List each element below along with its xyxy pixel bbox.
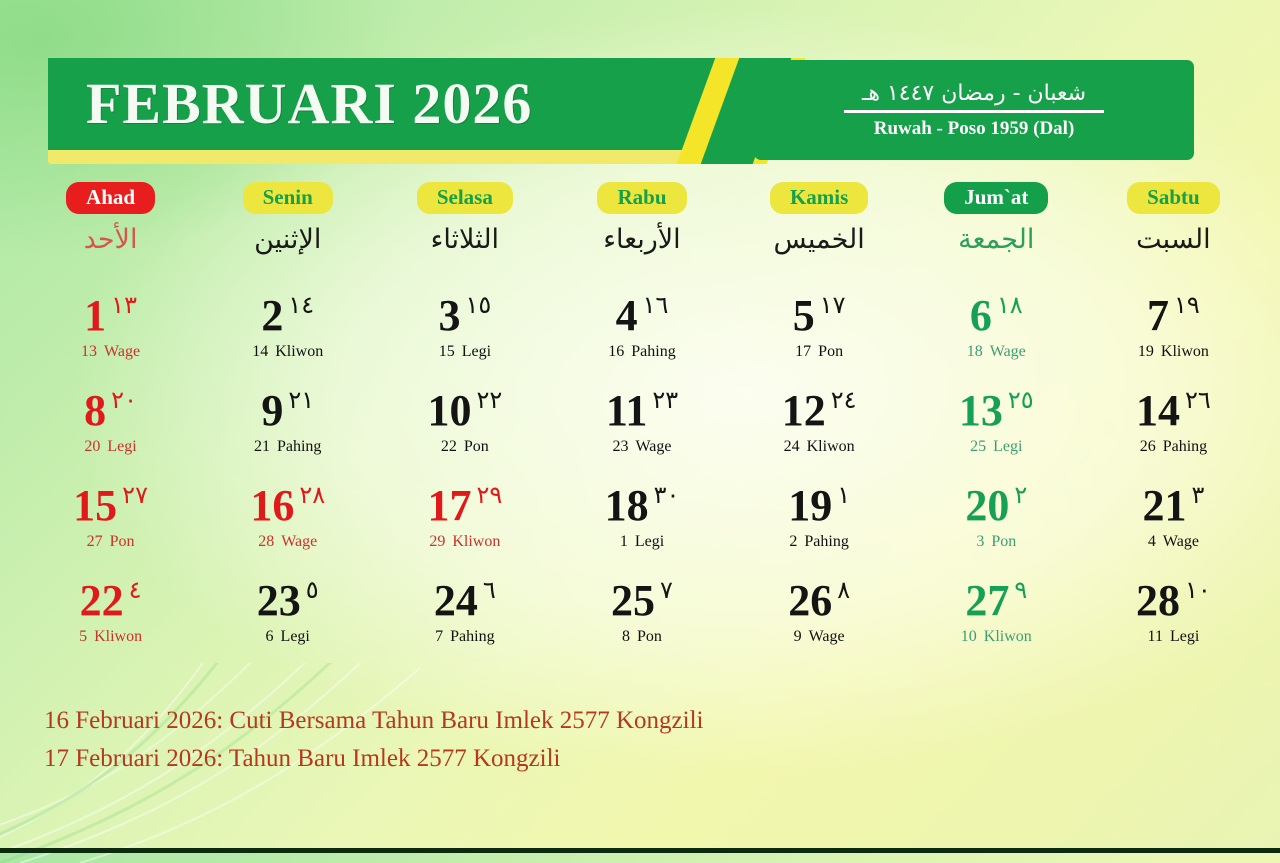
calendar-body: 1١٣13Wage2١٤14Kliwon3١٥15Legi4١٦16Pahing… — [22, 288, 1262, 668]
weekday-header-ahad: Ahadالأحد — [22, 182, 199, 257]
hijri-day-number: ٣٠ — [654, 480, 680, 510]
gregorian-day-number: 15 — [73, 478, 117, 534]
javanese-day-number: 1 — [620, 533, 628, 550]
day-cell[interactable]: 21٣4Wage — [1085, 478, 1262, 573]
day-cell[interactable]: 24٦7Pahing — [376, 573, 553, 668]
day-cell[interactable]: 15٢٧27Pon — [22, 478, 199, 573]
pasaran-name: Wage — [281, 533, 317, 550]
day-cell[interactable]: 25٧8Pon — [553, 573, 730, 668]
javanese-day-number: 9 — [794, 628, 802, 645]
pasaran-name: Pon — [637, 628, 662, 645]
javanese-day-number: 24 — [784, 438, 800, 455]
hijri-day-number: ٩ — [1014, 575, 1027, 605]
gregorian-day-number: 21 — [1142, 478, 1186, 534]
day-cell[interactable]: 10٢٢22Pon — [376, 383, 553, 478]
weekday-arabic-name: الأحد — [22, 223, 199, 257]
weekday-pill: Rabu — [597, 182, 686, 214]
javanese-day-number: 7 — [435, 628, 443, 645]
weekday-arabic-name: الجمعة — [908, 223, 1085, 257]
pasaran-name: Pon — [991, 533, 1016, 550]
day-cell[interactable]: 23٥6Legi — [199, 573, 376, 668]
javanese-day-number: 29 — [429, 533, 445, 550]
gregorian-day-number: 11 — [606, 383, 648, 439]
javanese-day-number: 6 — [266, 628, 274, 645]
javanese-month-label: Ruwah - Poso 1959 (Dal) — [874, 118, 1075, 140]
pasaran-name: Pon — [464, 438, 489, 455]
pasaran-name: Pahing — [277, 438, 321, 455]
gregorian-day-number: 28 — [1136, 573, 1180, 629]
pasaran-name: Wage — [809, 628, 845, 645]
calendar-header: FEBRUARI 2026 شعبان - رمضان ١٤٤٧ هـ Ruwa… — [48, 58, 1194, 170]
pasaran-name: Pahing — [450, 628, 494, 645]
weekday-pill: Selasa — [417, 182, 513, 214]
gregorian-day-number: 12 — [782, 383, 826, 439]
javanese-day-number: 23 — [612, 438, 628, 455]
holiday-notes: 16 Februari 2026: Cuti Bersama Tahun Bar… — [44, 702, 1144, 778]
hijri-month-arabic: شعبان - رمضان ١٤٤٧ هـ — [862, 81, 1086, 106]
day-cell[interactable]: 20٢3Pon — [908, 478, 1085, 573]
hijri-day-number: ٢٢ — [476, 385, 502, 415]
javanese-day-number: 26 — [1140, 438, 1156, 455]
javanese-day-number: 5 — [79, 628, 87, 645]
hijri-day-number: ٧ — [660, 575, 673, 605]
hijri-banner: شعبان - رمضان ١٤٤٧ هـ Ruwah - Poso 1959 … — [754, 60, 1194, 160]
javanese-day-number: 20 — [84, 438, 100, 455]
week-row: 1١٣13Wage2١٤14Kliwon3١٥15Legi4١٦16Pahing… — [22, 288, 1262, 383]
weekday-pill: Kamis — [770, 182, 868, 214]
javanese-day-number: 13 — [81, 343, 97, 360]
javanese-day-number: 19 — [1138, 343, 1154, 360]
hijri-day-number: ٢٥ — [1008, 385, 1034, 415]
pasaran-name: Legi — [1170, 628, 1199, 645]
javanese-day-number: 22 — [441, 438, 457, 455]
day-cell[interactable]: 3١٥15Legi — [376, 288, 553, 383]
javanese-day-number: 14 — [252, 343, 268, 360]
javanese-day-number: 3 — [976, 533, 984, 550]
day-cell[interactable]: 2١٤14Kliwon — [199, 288, 376, 383]
gregorian-day-number: 3 — [438, 288, 460, 344]
weekday-arabic-name: السبت — [1085, 223, 1262, 257]
javanese-day-number: 18 — [967, 343, 983, 360]
hijri-divider — [844, 110, 1104, 113]
gregorian-day-number: 23 — [257, 573, 301, 629]
weekday-header-selasa: Selasaالثلاثاء — [376, 182, 553, 257]
hijri-day-number: ١٠ — [1185, 575, 1211, 605]
javanese-day-number: 27 — [87, 533, 103, 550]
pasaran-name: Legi — [993, 438, 1022, 455]
javanese-day-number: 8 — [622, 628, 630, 645]
pasaran-name: Kliwon — [94, 628, 142, 645]
day-cell[interactable]: 6١٨18Wage — [908, 288, 1085, 383]
pasaran-name: Pahing — [631, 343, 675, 360]
weekday-header-sabtu: Sabtuالسبت — [1085, 182, 1262, 257]
hijri-day-number: ٢٠ — [111, 385, 137, 415]
day-cell[interactable]: 12٢٤24Kliwon — [731, 383, 908, 478]
weekday-header-jumat: Jum`atالجمعة — [908, 182, 1085, 257]
gregorian-day-number: 1 — [84, 288, 106, 344]
pasaran-name: Legi — [281, 628, 310, 645]
hijri-day-number: ٨ — [837, 575, 850, 605]
hijri-day-number: ١٨ — [997, 290, 1023, 320]
hijri-day-number: ٢٦ — [1185, 385, 1211, 415]
bottom-bar — [0, 848, 1280, 853]
gregorian-day-number: 17 — [427, 478, 471, 534]
day-cell[interactable]: 1١٣13Wage — [22, 288, 199, 383]
gregorian-day-number: 22 — [80, 573, 124, 629]
weekday-pill: Senin — [243, 182, 333, 214]
day-cell[interactable]: 28١٠11Legi — [1085, 573, 1262, 668]
pasaran-name: Legi — [635, 533, 664, 550]
hijri-day-number: ١٧ — [820, 290, 846, 320]
hijri-day-number: ٦ — [483, 575, 496, 605]
gregorian-day-number: 25 — [611, 573, 655, 629]
week-row: 8٢٠20Legi9٢١21Pahing10٢٢22Pon11٢٣23Wage1… — [22, 383, 1262, 478]
weekday-header-kamis: Kamisالخميس — [731, 182, 908, 257]
pasaran-name: Kliwon — [807, 438, 855, 455]
day-cell[interactable]: 16٢٨28Wage — [199, 478, 376, 573]
day-cell[interactable]: 11٢٣23Wage — [553, 383, 730, 478]
gregorian-day-number: 6 — [970, 288, 992, 344]
gregorian-day-number: 5 — [793, 288, 815, 344]
hijri-day-number: ١٤ — [288, 290, 314, 320]
gregorian-day-number: 13 — [959, 383, 1003, 439]
day-cell[interactable]: 17٢٩29Kliwon — [376, 478, 553, 573]
day-cell[interactable]: 18٣٠1Legi — [553, 478, 730, 573]
gregorian-day-number: 10 — [427, 383, 471, 439]
day-cell[interactable]: 14٢٦26Pahing — [1085, 383, 1262, 478]
javanese-day-number: 28 — [258, 533, 274, 550]
hijri-day-number: ١٦ — [643, 290, 669, 320]
weekday-header-rabu: Rabuالأربعاء — [553, 182, 730, 257]
hijri-day-number: ٥ — [306, 575, 319, 605]
pasaran-name: Wage — [1163, 533, 1199, 550]
pasaran-name: Wage — [104, 343, 140, 360]
pasaran-name: Pahing — [1163, 438, 1207, 455]
weekday-header-senin: Seninالإثنين — [199, 182, 376, 257]
weekday-arabic-name: الإثنين — [199, 223, 376, 257]
hijri-day-number: ١٩ — [1174, 290, 1200, 320]
gregorian-day-number: 26 — [788, 573, 832, 629]
gregorian-day-number: 7 — [1147, 288, 1169, 344]
gregorian-day-number: 14 — [1136, 383, 1180, 439]
gregorian-day-number: 8 — [84, 383, 106, 439]
week-row: 15٢٧27Pon16٢٨28Wage17٢٩29Kliwon18٣٠1Legi… — [22, 478, 1262, 573]
pasaran-name: Kliwon — [452, 533, 500, 550]
javanese-day-number: 16 — [608, 343, 624, 360]
hijri-day-number: ٢٨ — [299, 480, 325, 510]
day-cell[interactable]: 5١٧17Pon — [731, 288, 908, 383]
day-cell[interactable]: 27٩10Kliwon — [908, 573, 1085, 668]
hijri-day-number: ٢ — [1014, 480, 1027, 510]
javanese-day-number: 2 — [789, 533, 797, 550]
hijri-day-number: ٢٣ — [652, 385, 678, 415]
pasaran-name: Kliwon — [1161, 343, 1209, 360]
pasaran-name: Pon — [818, 343, 843, 360]
day-cell[interactable]: 26٨9Wage — [731, 573, 908, 668]
hijri-day-number: ١ — [837, 480, 850, 510]
header-yellow-underline — [48, 150, 738, 164]
hijri-day-number: ١٥ — [465, 290, 491, 320]
weekday-pill: Ahad — [66, 182, 155, 214]
weekday-arabic-name: الخميس — [731, 223, 908, 257]
hijri-day-number: ١٣ — [111, 290, 137, 320]
pasaran-name: Legi — [462, 343, 491, 360]
pasaran-name: Pahing — [804, 533, 848, 550]
holiday-note: 16 Februari 2026: Cuti Bersama Tahun Bar… — [44, 702, 1144, 740]
javanese-day-number: 4 — [1148, 533, 1156, 550]
gregorian-day-number: 9 — [261, 383, 283, 439]
day-cell[interactable]: 7١٩19Kliwon — [1085, 288, 1262, 383]
weekday-pill: Sabtu — [1127, 182, 1220, 214]
pasaran-name: Kliwon — [984, 628, 1032, 645]
gregorian-day-number: 19 — [788, 478, 832, 534]
javanese-day-number: 11 — [1148, 628, 1163, 645]
holiday-note: 17 Februari 2026: Tahun Baru Imlek 2577 … — [44, 740, 1144, 778]
javanese-day-number: 25 — [970, 438, 986, 455]
pasaran-name: Legi — [107, 438, 136, 455]
gregorian-day-number: 16 — [250, 478, 294, 534]
page-title: FEBRUARI 2026 — [86, 68, 532, 140]
day-cell[interactable]: 19١2Pahing — [731, 478, 908, 573]
hijri-day-number: ٣ — [1191, 480, 1204, 510]
week-row: 22٤5Kliwon23٥6Legi24٦7Pahing25٧8Pon26٨9W… — [22, 573, 1262, 668]
gregorian-day-number: 2 — [261, 288, 283, 344]
pasaran-name: Kliwon — [275, 343, 323, 360]
hijri-day-number: ٢١ — [288, 385, 314, 415]
hijri-day-number: ٢٤ — [831, 385, 857, 415]
hijri-day-number: ٢٩ — [476, 480, 502, 510]
gregorian-day-number: 20 — [965, 478, 1009, 534]
javanese-day-number: 17 — [795, 343, 811, 360]
weekday-pill: Jum`at — [944, 182, 1048, 214]
pasaran-name: Pon — [110, 533, 135, 550]
day-cell[interactable]: 9٢١21Pahing — [199, 383, 376, 478]
weekday-header-row: AhadالأحدSeninالإثنينSelasaالثلاثاءRabuا… — [22, 182, 1262, 257]
weekday-arabic-name: الأربعاء — [553, 223, 730, 257]
day-cell[interactable]: 4١٦16Pahing — [553, 288, 730, 383]
javanese-day-number: 21 — [254, 438, 270, 455]
hijri-day-number: ٤ — [129, 575, 142, 605]
hijri-day-number: ٢٧ — [122, 480, 148, 510]
pasaran-name: Wage — [990, 343, 1026, 360]
day-cell[interactable]: 8٢٠20Legi — [22, 383, 199, 478]
weekday-arabic-name: الثلاثاء — [376, 223, 553, 257]
day-cell[interactable]: 22٤5Kliwon — [22, 573, 199, 668]
gregorian-day-number: 4 — [616, 288, 638, 344]
gregorian-day-number: 24 — [434, 573, 478, 629]
pasaran-name: Wage — [635, 438, 671, 455]
day-cell[interactable]: 13٢٥25Legi — [908, 383, 1085, 478]
javanese-day-number: 15 — [439, 343, 455, 360]
gregorian-day-number: 18 — [605, 478, 649, 534]
javanese-day-number: 10 — [961, 628, 977, 645]
gregorian-day-number: 27 — [965, 573, 1009, 629]
